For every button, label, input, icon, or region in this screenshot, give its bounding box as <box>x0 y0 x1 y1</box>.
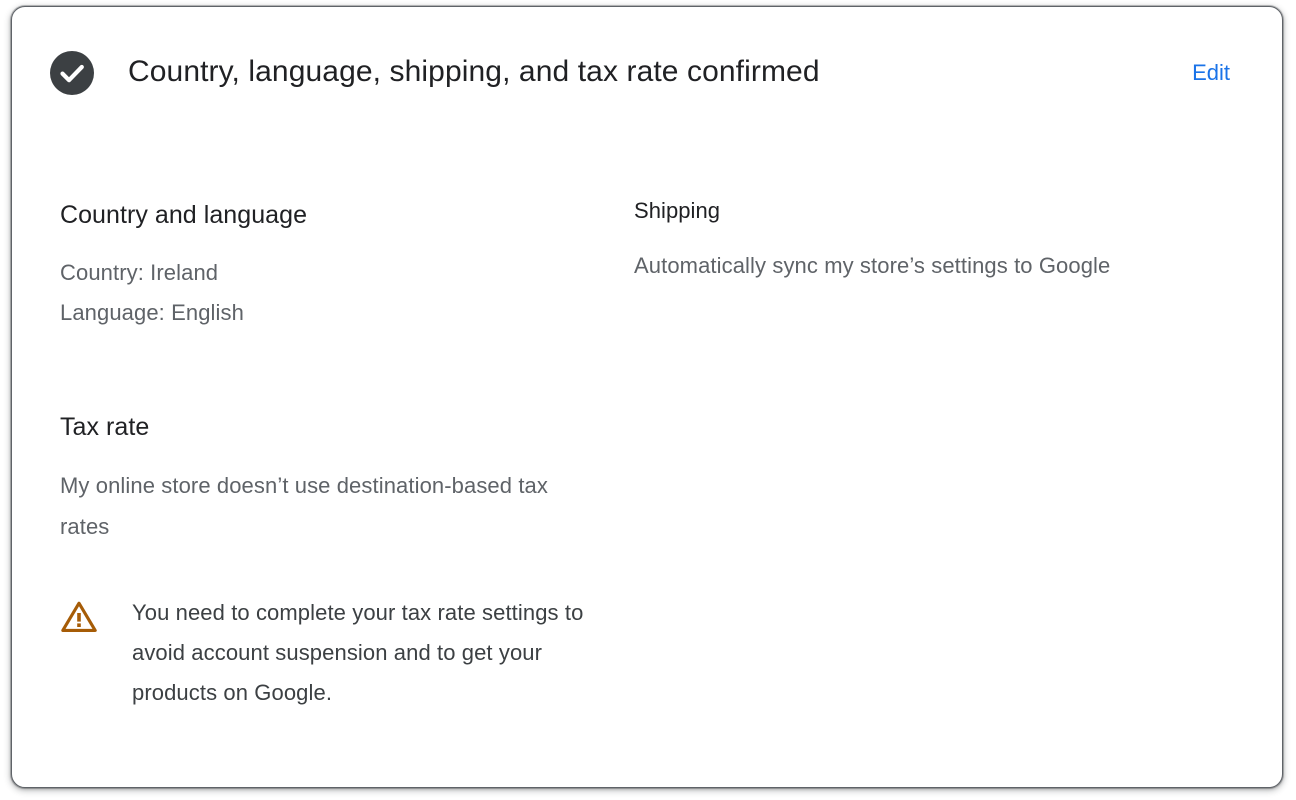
language-value: Language: English <box>60 293 640 333</box>
shipping-section: Shipping Automatically sync my store’s s… <box>634 197 1194 286</box>
left-column: Country and language Country: Ireland La… <box>60 199 640 713</box>
tax-rate-section: Tax rate My online store doesn’t use des… <box>60 411 640 713</box>
shipping-value: Automatically sync my store’s settings t… <box>634 245 1164 286</box>
edit-button[interactable]: Edit <box>1190 55 1232 91</box>
card-header: Country, language, shipping, and tax rat… <box>12 7 1282 137</box>
warning-message: You need to complete your tax rate setti… <box>132 593 622 713</box>
tax-rate-value: My online store doesn’t use destination-… <box>60 465 580 547</box>
card-body: Country and language Country: Ireland La… <box>12 137 1282 787</box>
shipping-heading: Shipping <box>634 197 1194 225</box>
tax-rate-heading: Tax rate <box>60 411 640 443</box>
screen-root: Country, language, shipping, and tax rat… <box>0 0 1296 800</box>
page-title: Country, language, shipping, and tax rat… <box>128 53 1190 91</box>
country-language-heading: Country and language <box>60 199 640 231</box>
country-value: Country: Ireland <box>60 253 640 293</box>
tax-rate-warning: You need to complete your tax rate setti… <box>60 593 640 713</box>
warning-triangle-icon <box>60 598 98 636</box>
status-card: Country, language, shipping, and tax rat… <box>11 6 1283 788</box>
right-column: Shipping Automatically sync my store’s s… <box>634 197 1194 286</box>
check-circle-icon <box>50 51 94 95</box>
country-language-section: Country and language Country: Ireland La… <box>60 199 640 333</box>
